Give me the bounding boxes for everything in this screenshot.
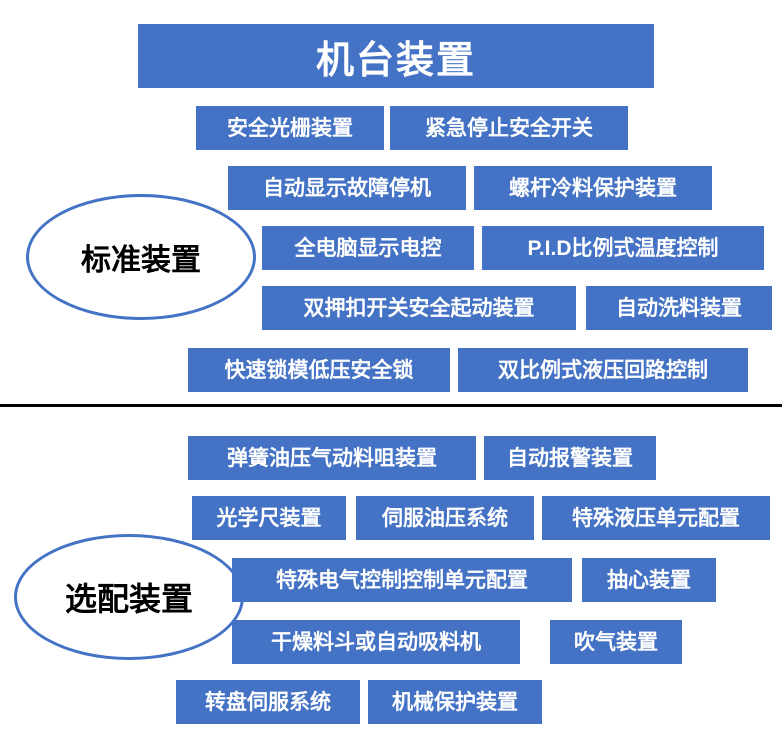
feature-box: 紧急停止安全开关 — [390, 106, 628, 150]
section-divider — [0, 404, 782, 407]
feature-box: 双比例式液压回路控制 — [458, 348, 748, 392]
feature-box: 吹气装置 — [550, 620, 682, 664]
feature-box: 自动显示故障停机 — [228, 166, 466, 210]
feature-box: 弹簧油压气动料咀装置 — [188, 436, 476, 480]
feature-box: 全电脑显示电控 — [262, 226, 474, 270]
feature-box: 伺服油压系统 — [356, 496, 534, 540]
feature-box: 自动报警装置 — [484, 436, 656, 480]
diagram-canvas: 机台装置 标准装置 选配装置 安全光栅装置紧急停止安全开关自动显示故障停机螺杆冷… — [0, 0, 782, 750]
feature-box: 干燥料斗或自动吸料机 — [232, 620, 520, 664]
feature-box: 自动洗料装置 — [586, 286, 772, 330]
feature-box: P.I.D比例式温度控制 — [482, 226, 764, 270]
page-title: 机台装置 — [138, 24, 654, 88]
feature-box: 转盘伺服系统 — [176, 680, 360, 724]
optional-section-label: 选配装置 — [14, 534, 244, 660]
feature-box: 特殊液压单元配置 — [542, 496, 770, 540]
feature-box: 双押扣开关安全起动装置 — [262, 286, 576, 330]
feature-box: 抽心装置 — [582, 558, 716, 602]
feature-box: 快速锁模低压安全锁 — [188, 348, 450, 392]
feature-box: 特殊电气控制控制单元配置 — [232, 558, 572, 602]
standard-section-label: 标准装置 — [26, 194, 256, 320]
feature-box: 机械保护装置 — [368, 680, 542, 724]
feature-box: 光学尺装置 — [192, 496, 346, 540]
feature-box: 螺杆冷料保护装置 — [474, 166, 712, 210]
feature-box: 安全光栅装置 — [196, 106, 384, 150]
